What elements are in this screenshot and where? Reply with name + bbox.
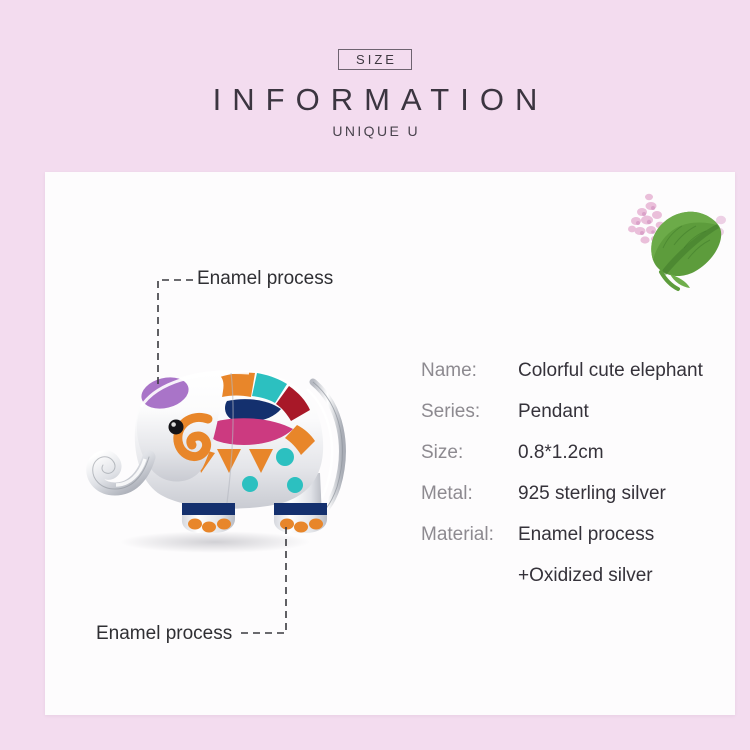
spec-value: 0.8*1.2cm: [518, 442, 604, 464]
spec-value: Pendant: [518, 401, 589, 423]
size-badge: SIZE: [338, 49, 412, 70]
eye-highlight: [171, 422, 176, 427]
page-header: SIZE INFORMATION UNIQUE U: [0, 0, 750, 172]
spec-label: Size:: [421, 442, 518, 464]
spec-value: Colorful cute elephant: [518, 360, 703, 382]
information-card: Enamel process Enamel process Name: Colo…: [45, 172, 735, 715]
spec-label: Material:: [421, 524, 518, 546]
spec-label: Name:: [421, 360, 518, 382]
elephant-rear-foot: [274, 503, 327, 533]
spec-row-size: Size: 0.8*1.2cm: [421, 442, 721, 483]
spec-label: Metal:: [421, 483, 518, 505]
spec-row-material-continued: +Oxidized silver: [421, 565, 721, 606]
page-title: INFORMATION: [0, 82, 750, 118]
elephant-front-foot: [182, 503, 235, 533]
spec-value: +Oxidized silver: [518, 565, 653, 587]
product-spec-list: Name: Colorful cute elephant Series: Pen…: [421, 360, 721, 606]
page-subtitle: UNIQUE U: [0, 123, 750, 139]
spec-row-name: Name: Colorful cute elephant: [421, 360, 721, 401]
leaf-and-lilac-flower-icon: [620, 182, 735, 292]
annotation-label-top: Enamel process: [197, 268, 333, 290]
spec-value: Enamel process: [518, 524, 654, 546]
annotation-label-bottom: Enamel process: [96, 623, 232, 645]
spec-row-series: Series: Pendant: [421, 401, 721, 442]
elephant-eye: [169, 420, 184, 435]
spec-row-metal: Metal: 925 sterling silver: [421, 483, 721, 524]
spec-label: Series:: [421, 401, 518, 423]
spec-row-material: Material: Enamel process: [421, 524, 721, 565]
elephant-trunk: [93, 457, 149, 489]
product-image-elephant-charm: [45, 337, 385, 567]
spec-value: 925 sterling silver: [518, 483, 666, 505]
